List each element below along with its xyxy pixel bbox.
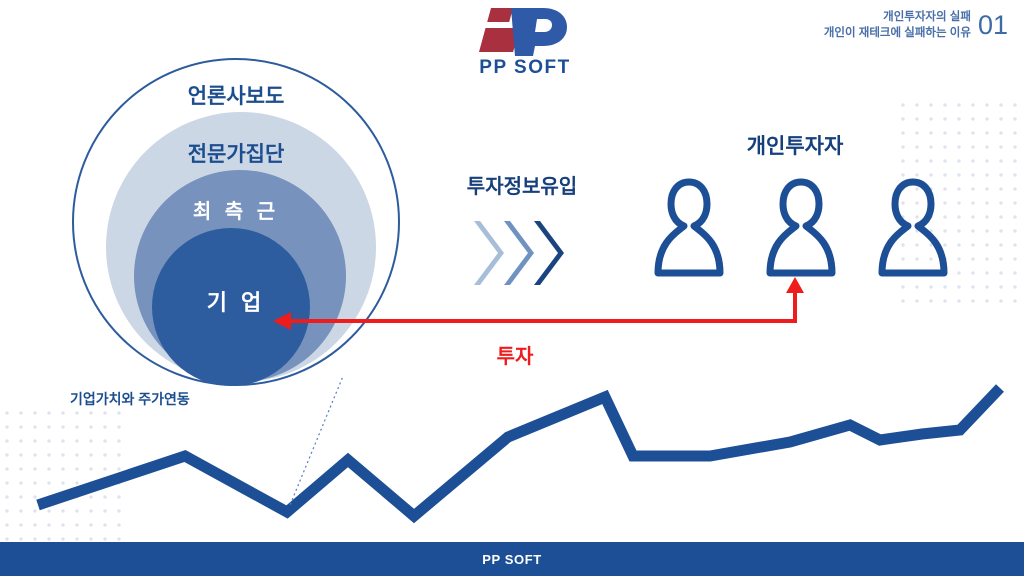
slide-number: 01 (978, 12, 1008, 39)
header-line-2: 개인이 재테크에 실패하는 이유 (824, 26, 971, 42)
flow-label-info-inflow: 투자정보유입 (437, 170, 607, 199)
footer-brand-text: PP SOFT (482, 552, 542, 567)
investment-label: 투자 (455, 340, 575, 369)
footer-bar: PP SOFT (0, 542, 1024, 576)
people-label-individual-investors: 개인투자자 (665, 130, 925, 160)
pp-soft-logo-icon (469, 4, 581, 56)
circle-label-insiders: 최 측 근 (72, 195, 400, 224)
person-icon-1 (658, 182, 720, 273)
circle-label-experts: 전문가집단 (72, 138, 400, 168)
investment-flow-arrow-icon (265, 275, 825, 337)
chart-data-marker (283, 505, 293, 515)
stock-price-line-chart (0, 376, 1024, 542)
person-icon-3 (882, 182, 944, 273)
person-icon-2 (770, 182, 832, 273)
slide-canvas: PP SOFT 개인투자자의 실패 개인이 재테크에 실패하는 이유 01 언론… (0, 0, 1024, 576)
header-text-lines: 개인투자자의 실패 개인이 재테크에 실패하는 이유 (824, 10, 971, 41)
circle-label-media: 언론사보도 (72, 80, 400, 110)
header-line-1: 개인투자자의 실패 (824, 10, 971, 26)
header-title-block: 개인투자자의 실패 개인이 재테크에 실패하는 이유 01 (824, 10, 1008, 41)
brand-logo: PP SOFT (455, 4, 595, 90)
chart-line-series (38, 388, 1000, 516)
logo-wordmark: PP SOFT (455, 58, 595, 77)
individual-investors-icons (628, 160, 948, 280)
